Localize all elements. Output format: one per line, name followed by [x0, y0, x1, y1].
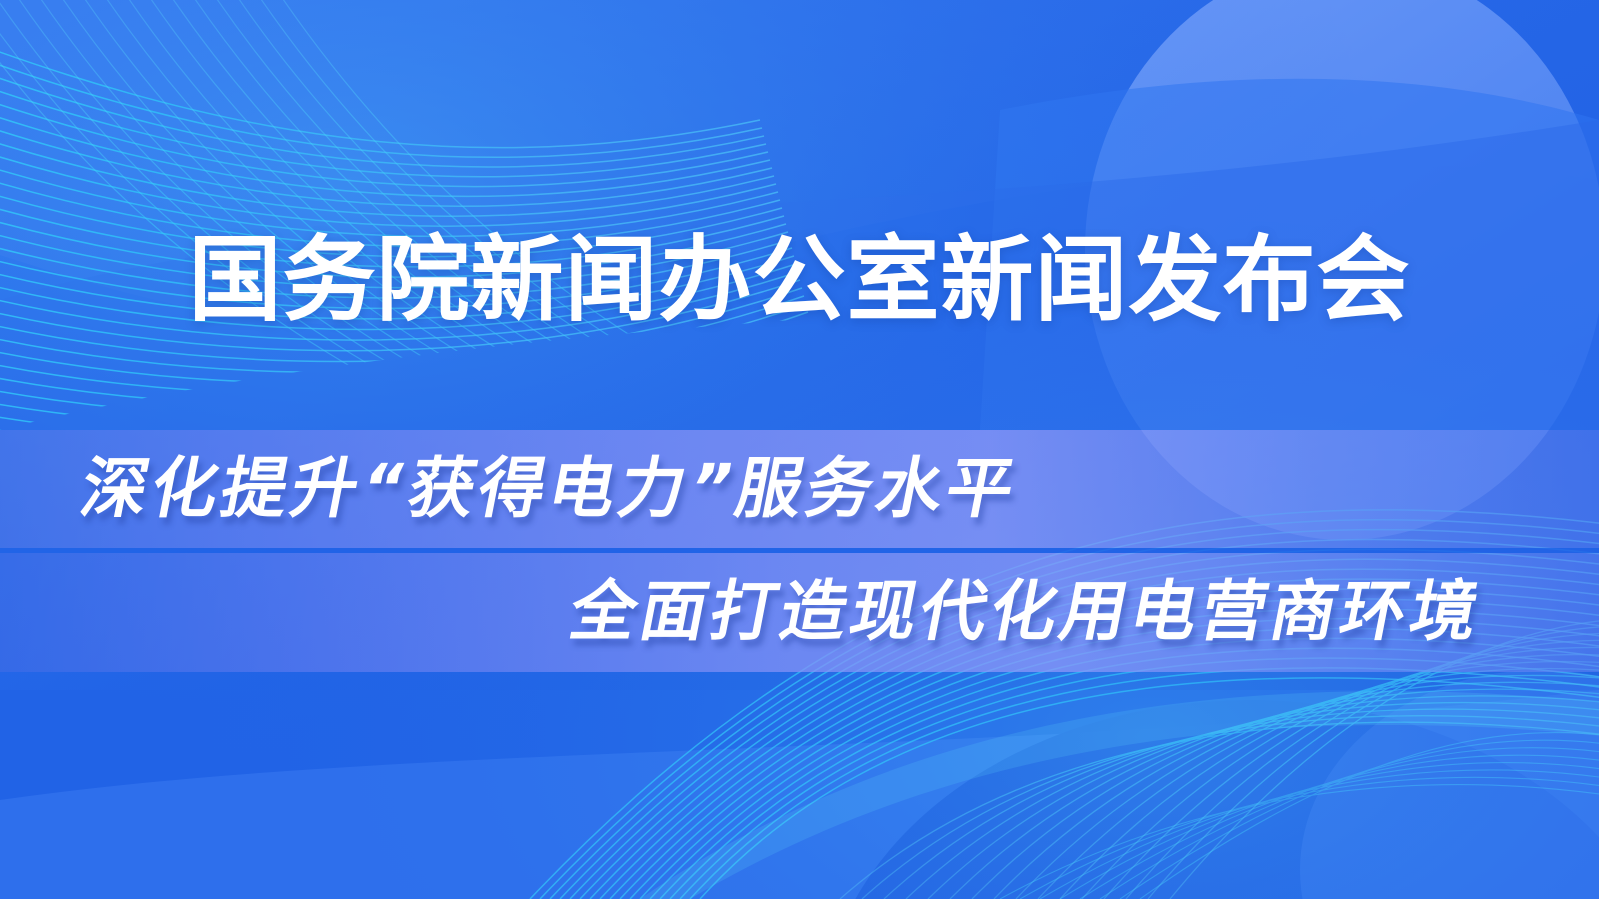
- press-conference-poster: 国务院新闻办公室新闻发布会 深化提升“获得电力”服务水平 全面打造现代化用电营商…: [0, 0, 1599, 899]
- dark-ellipse-bottom-right: [820, 700, 1599, 899]
- light-ellipse-bottom-corner: [1300, 670, 1599, 899]
- subtitle-line-one: 深化提升“获得电力”服务水平: [71, 430, 1029, 548]
- cyan-streak: [640, 691, 1599, 899]
- title-row: 国务院新闻办公室新闻发布会: [0, 216, 1599, 344]
- page-title: 国务院新闻办公室新闻发布会: [189, 234, 1411, 327]
- bottom-base-shape: [0, 690, 1599, 899]
- subtitle-line-two: 全面打造现代化用电营商环境: [560, 553, 1493, 671]
- bottom-light-wave: [0, 690, 1599, 899]
